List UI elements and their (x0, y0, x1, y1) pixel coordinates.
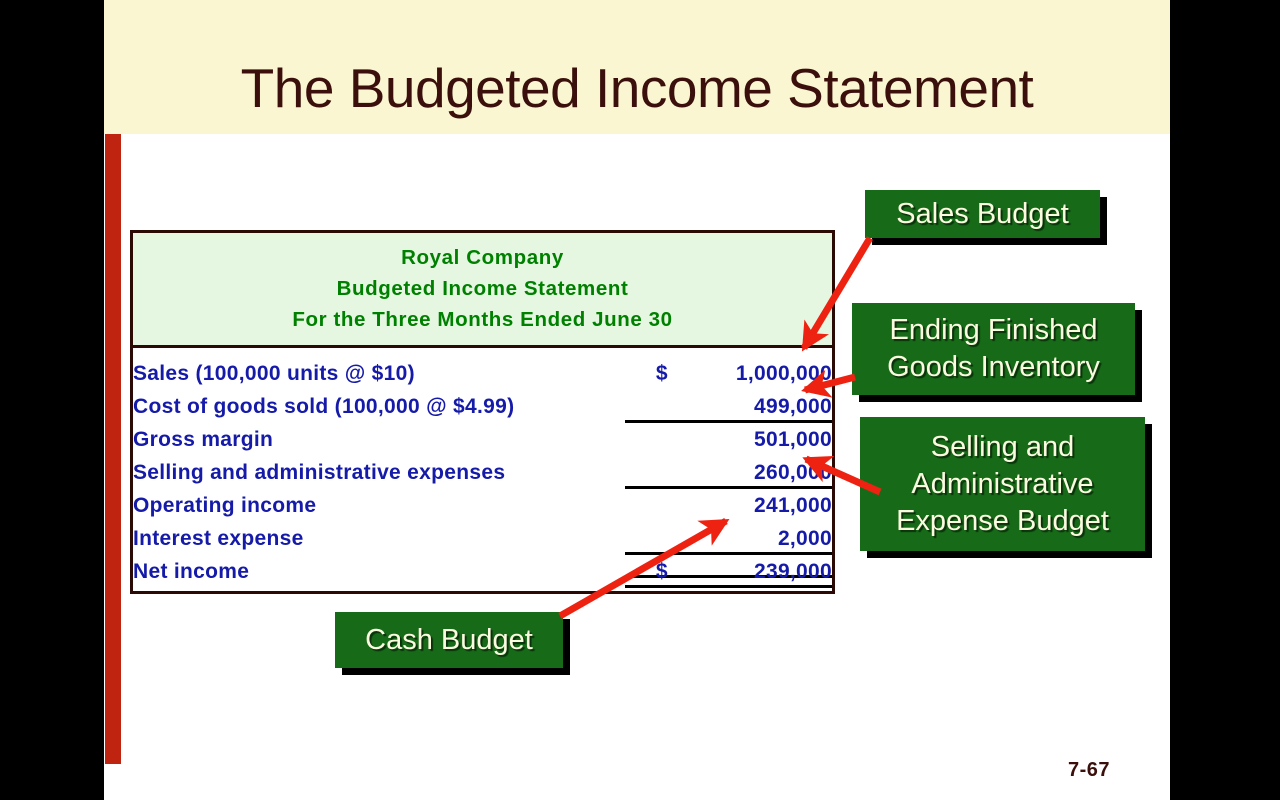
statement-row: Operating income241,000 (133, 489, 832, 522)
statement-line-items: Sales (100,000 units @ $10)$1,000,000Cos… (133, 357, 832, 588)
statement-row: Gross margin501,000 (133, 423, 832, 456)
slide-canvas: The Budgeted Income Statement Royal Comp… (104, 0, 1170, 800)
statement-row-currency-symbol: $ (625, 357, 667, 390)
statement-row-amount: 2,000 (668, 522, 832, 555)
statement-row-currency-symbol: $ (625, 555, 667, 588)
statement-row: Selling and administrative expenses260,0… (133, 456, 832, 489)
statement-row: Cost of goods sold (100,000 @ $4.99)499,… (133, 390, 832, 423)
statement-report-title: Budgeted Income Statement (133, 273, 832, 304)
statement-row-currency-symbol (625, 522, 667, 555)
page-title: The Budgeted Income Statement (104, 56, 1170, 120)
statement-row: Net income$239,000 (133, 555, 832, 588)
screenshot-stage: The Budgeted Income Statement Royal Comp… (0, 0, 1280, 800)
statement-period: For the Three Months Ended June 30 (133, 304, 832, 335)
statement-row-amount: 260,000 (668, 456, 832, 489)
callout-ending-finished-goods-inventory-label: Ending FinishedGoods Inventory (887, 312, 1100, 386)
statement-row-currency-symbol (625, 390, 667, 423)
callout-cash-budget[interactable]: Cash Budget (335, 612, 563, 668)
statement-row-amount: 501,000 (668, 423, 832, 456)
statement-row-label: Interest expense (133, 522, 625, 555)
left-accent-bar (105, 134, 121, 764)
callout-sales-budget[interactable]: Sales Budget (865, 190, 1100, 238)
statement-row-label: Cost of goods sold (100,000 @ $4.99) (133, 390, 625, 423)
statement-row-amount: 499,000 (668, 390, 832, 423)
statement-row: Sales (100,000 units @ $10)$1,000,000 (133, 357, 832, 390)
statement-row-label: Net income (133, 555, 625, 588)
statement-row: Interest expense2,000 (133, 522, 832, 555)
statement-row-currency-symbol (625, 456, 667, 489)
statement-row-amount: 1,000,000 (668, 357, 832, 390)
callout-ending-finished-goods-inventory[interactable]: Ending FinishedGoods Inventory (852, 303, 1135, 395)
statement-row-label: Selling and administrative expenses (133, 456, 625, 489)
statement-row-label: Operating income (133, 489, 625, 522)
budgeted-income-statement-table: Royal Company Budgeted Income Statement … (130, 230, 835, 594)
callout-cash-budget-label: Cash Budget (365, 622, 533, 659)
statement-body: Sales (100,000 units @ $10)$1,000,000Cos… (133, 348, 832, 588)
statement-row-label: Sales (100,000 units @ $10) (133, 357, 625, 390)
statement-row-label: Gross margin (133, 423, 625, 456)
statement-row-currency-symbol (625, 489, 667, 522)
statement-row-currency-symbol (625, 423, 667, 456)
statement-company-name: Royal Company (133, 242, 832, 273)
callout-selling-administrative-expense-budget-label: Selling andAdministrativeExpense Budget (896, 429, 1109, 540)
title-band: The Budgeted Income Statement (104, 0, 1170, 134)
statement-row-amount: 241,000 (668, 489, 832, 522)
callout-sales-budget-label: Sales Budget (896, 196, 1069, 233)
statement-row-amount: 239,000 (668, 555, 832, 588)
callout-selling-administrative-expense-budget[interactable]: Selling andAdministrativeExpense Budget (860, 417, 1145, 551)
page-number: 7-67 (1068, 759, 1110, 782)
statement-heading: Royal Company Budgeted Income Statement … (133, 233, 832, 348)
